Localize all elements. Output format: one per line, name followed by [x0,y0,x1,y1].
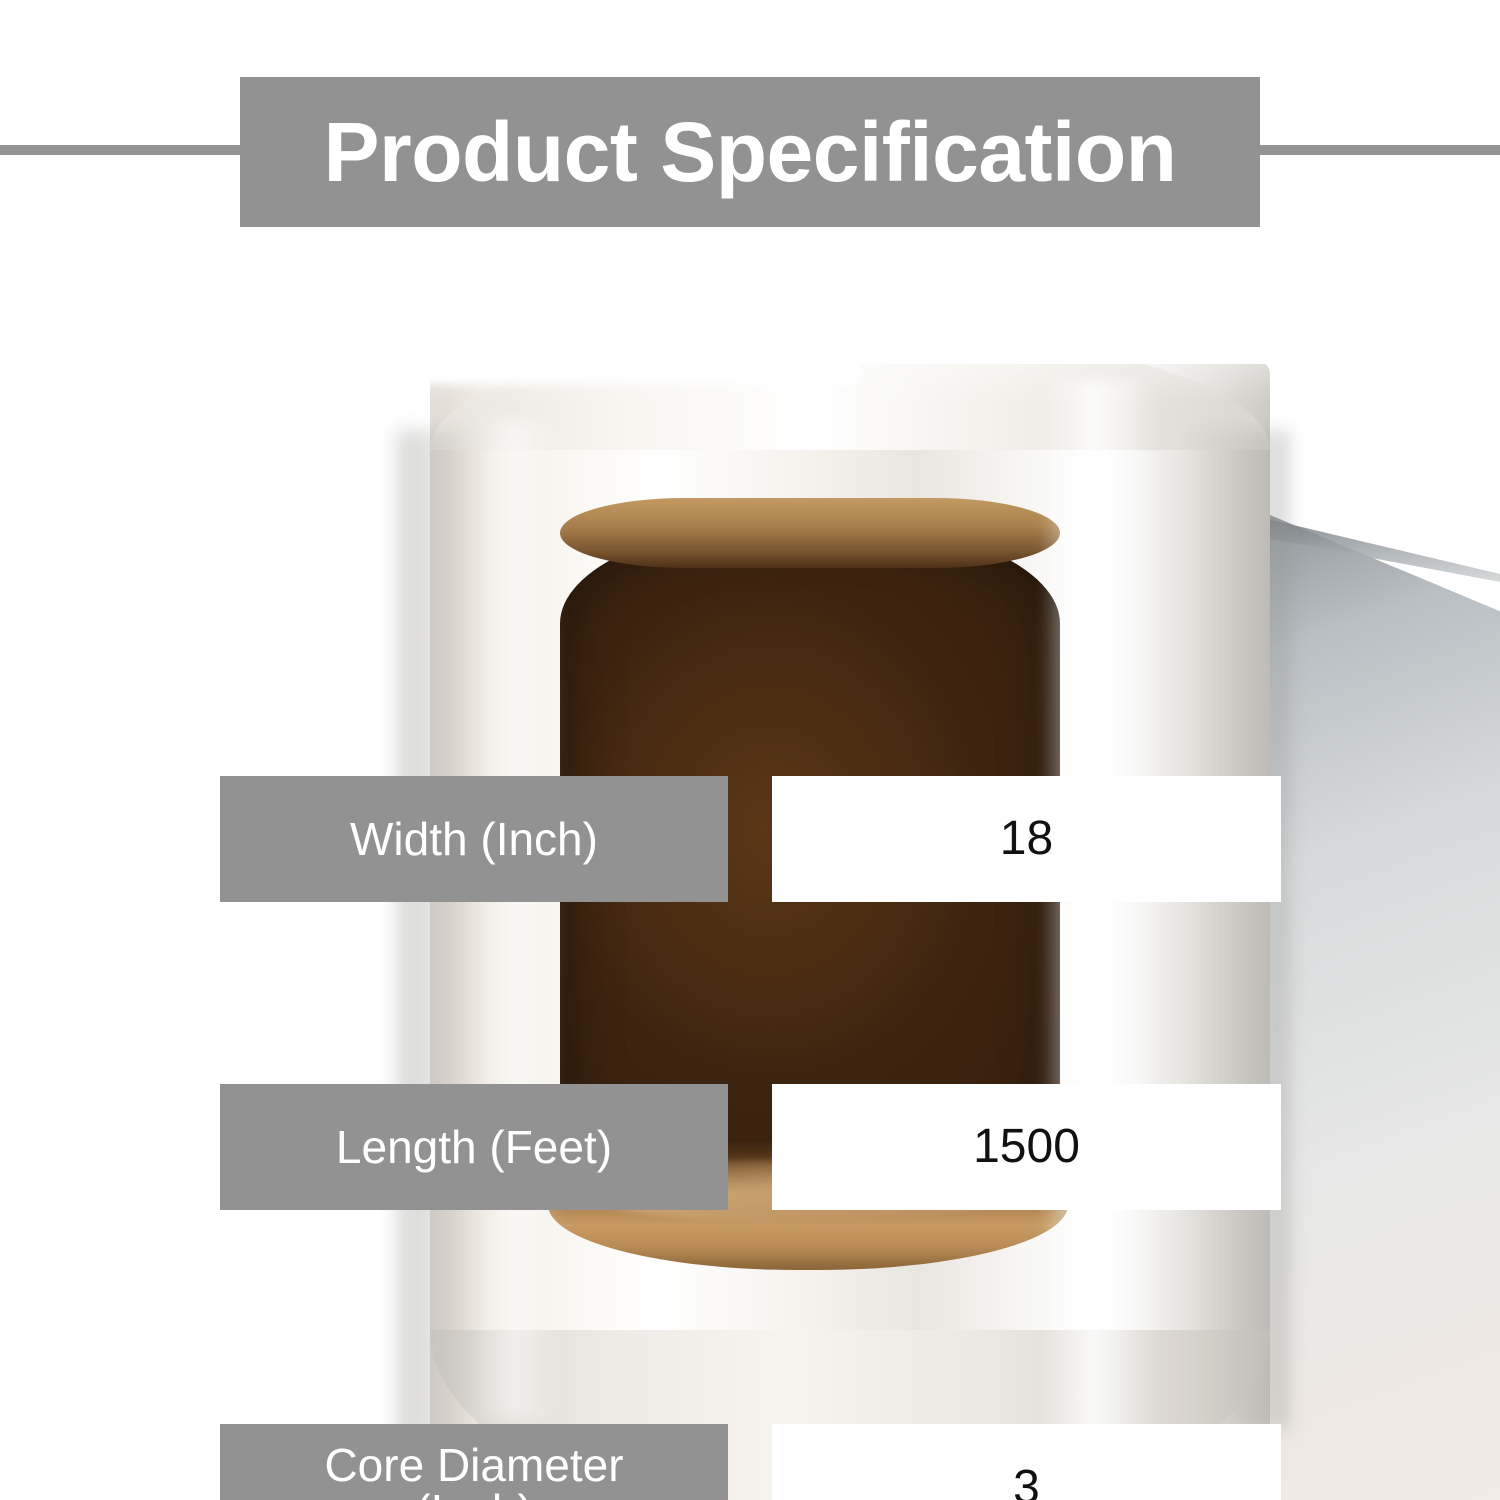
product-specification-infographic: Product Specification Width (Inch) 18 Le… [0,0,1500,1500]
spec-value-cell: 3 [772,1424,1281,1500]
spec-value-text: 3 [1013,1464,1040,1500]
table-row: Rolls 8 [0,1033,1500,1159]
table-row: Gauge 57 [0,870,1500,996]
specification-table: Width (Inch) 18 Length (Feet) 1500 Core … [0,0,1500,1500]
table-row: Length (Feet) 1500 [0,542,1500,668]
table-row: Color Clear [0,1199,1500,1325]
spec-label-cell: Core Diameter (Inch) [220,1424,728,1500]
table-row: Core Diameter (Inch) 3 [0,712,1500,840]
table-row: Width (Inch) 18 [0,388,1500,514]
spec-label-text: Core Diameter (Inch) [324,1442,623,1500]
